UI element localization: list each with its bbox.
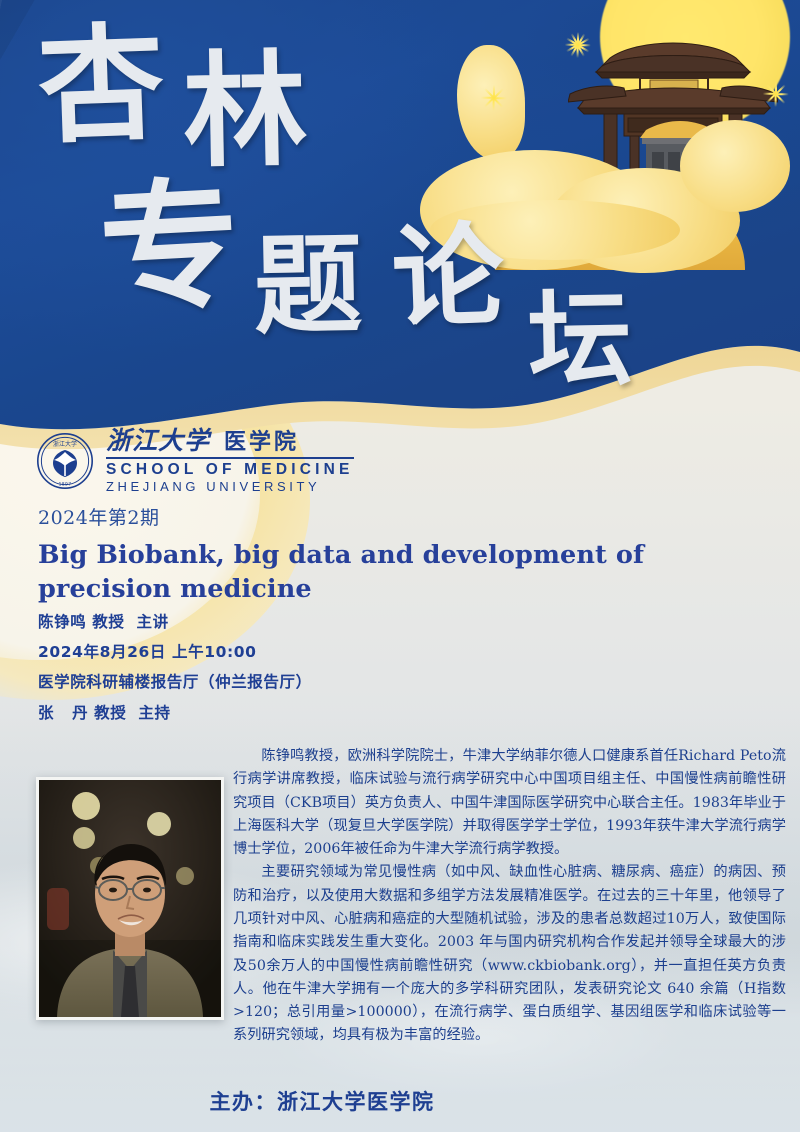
organizer-text: 主办：浙江大学医学院 [210,1086,435,1116]
firework-burst-icon [476,80,512,116]
zju-school-of-medicine-logo: 浙江大学 1897 浙江大学 医学院 SCHOOL OF MEDICINE ZH… [36,428,354,494]
logo-university-name-cn: 浙江大学 [106,428,210,454]
auspicious-cloud-icon [430,200,680,260]
speaker-biography: 陈铮鸣教授，欧洲科学院院士，牛津大学纳菲尔德人口健康系首任Richard Pet… [233,745,786,1048]
auspicious-cloud-icon [680,120,790,212]
bio-paragraph-2: 主要研究领域为常见慢性病（如中风、缺血性心脏病、糖尿病、癌症）的病因、预防和治疗… [233,861,786,1047]
organizer-line: 主办：浙江大学医学院 [0,1086,800,1116]
svg-text:1897: 1897 [59,482,72,488]
logo-school-name-cn: 医学院 [224,431,299,454]
firework-burst-icon [551,18,605,72]
talk-title: Big Biobank, big data and development of… [38,538,658,606]
firework-burst-icon [756,74,796,114]
event-details: 陈铮鸣 教授 主讲 2024年8月26日 上午10:00 医学院科研辅楼报告厅（… [38,607,312,728]
venue-line: 医学院科研辅楼报告厅（仲兰报告厅） [38,667,312,697]
seminar-poster: 杏 林 专 题 论 坛 浙江大学 1897 浙江大学 医学院 SCHOOL [0,0,800,1132]
logo-school-name-en: SCHOOL OF MEDICINE [106,461,354,479]
speaker-portrait [36,777,224,1020]
logo-university-name-en: ZHEJIANG UNIVERSITY [106,479,354,495]
issue-label: 2024年第2期 [38,503,159,530]
moderator-line: 张 丹 教授 主持 [38,698,312,728]
datetime-line: 2024年8月26日 上午10:00 [38,637,312,667]
speaker-line: 陈铮鸣 教授 主讲 [38,607,312,637]
bio-paragraph-1: 陈铮鸣教授，欧洲科学院院士，牛津大学纳菲尔德人口健康系首任Richard Pet… [233,745,786,861]
logo-divider-rule [106,457,354,459]
zhejiang-university-seal-icon: 浙江大学 1897 [36,432,94,490]
svg-text:浙江大学: 浙江大学 [53,440,77,448]
